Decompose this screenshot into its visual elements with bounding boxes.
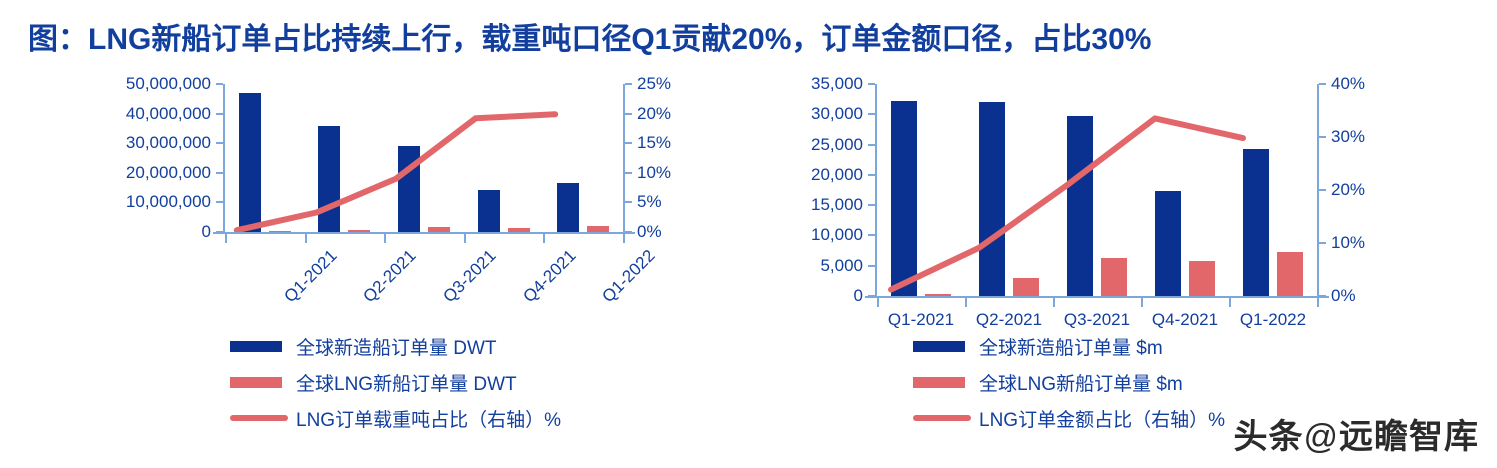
y-axis-left-tick — [868, 204, 875, 206]
x-axis-tick — [965, 298, 967, 307]
y-axis-right-label: 10% — [1331, 234, 1365, 251]
y-axis-left-label: 5,000 — [747, 257, 863, 274]
legend-label: 全球LNG新船订单量 DWT — [296, 369, 517, 396]
y-axis-left-tick — [868, 144, 875, 146]
legend-bar-swatch — [913, 377, 965, 388]
x-axis-label: Q2-2021 — [360, 246, 421, 307]
y-axis-right-label: 25% — [637, 75, 671, 92]
x-axis-tick — [1229, 298, 1231, 307]
y-axis-right-label: 40% — [1331, 75, 1365, 92]
y-axis-left-tick — [868, 234, 875, 236]
x-axis-tick — [305, 234, 307, 243]
legend: 全球新造船订单量 $m全球LNG新船订单量 $mLNG订单金额占比（右轴）% — [913, 328, 1225, 436]
chart-right-usd: 05,00010,00015,00020,00025,00030,00035,0… — [745, 70, 1445, 465]
y-axis-right-label: 0% — [1331, 287, 1356, 304]
y-axis-right-label: 30% — [1331, 128, 1365, 145]
y-axis-right-tick — [1319, 295, 1326, 297]
y-axis-left-tick — [216, 113, 223, 115]
y-axis-right-line — [623, 84, 625, 232]
y-axis-left-label: 25,000 — [747, 136, 863, 153]
plot-area — [225, 84, 623, 232]
y-axis-left-tick — [216, 231, 223, 233]
line-series-layer — [225, 84, 623, 232]
legend: 全球新造船订单量 DWT全球LNG新船订单量 DWTLNG订单载重吨占比（右轴）… — [230, 328, 561, 436]
legend-bar-swatch — [913, 341, 965, 352]
page-title: 图：LNG新船订单占比持续上行，载重吨口径Q1贡献20%，订单金额口径，占比30… — [28, 14, 1151, 58]
y-axis-right-label: 5% — [637, 193, 662, 210]
legend-bar-swatch — [230, 377, 282, 388]
legend-item[interactable]: LNG订单金额占比（右轴）% — [913, 400, 1225, 436]
x-axis-line — [213, 232, 635, 234]
x-axis-label: Q3-2021 — [1053, 310, 1141, 330]
legend-label: LNG订单载重吨占比（右轴）% — [296, 405, 561, 432]
y-axis-left-tick — [216, 142, 223, 144]
y-axis-left-tick — [868, 295, 875, 297]
y-axis-right-tick — [625, 231, 632, 233]
y-axis-left-line — [875, 84, 877, 296]
x-axis-tick — [384, 234, 386, 243]
y-axis-right-tick — [625, 113, 632, 115]
x-axis-tick — [464, 234, 466, 243]
line-lng-share — [891, 118, 1243, 289]
chart-left-dwt: 010,000,00020,000,00030,000,00040,000,00… — [95, 70, 735, 465]
legend-label: 全球新造船订单量 $m — [979, 333, 1163, 360]
y-axis-right-label: 20% — [637, 105, 671, 122]
watermark-prefix: 头条 — [1233, 418, 1303, 456]
x-axis-label: Q2-2021 — [965, 310, 1053, 330]
y-axis-left-label: 35,000 — [747, 75, 863, 92]
y-axis-left-label: 20,000 — [747, 166, 863, 183]
y-axis-left-label: 10,000,000 — [97, 193, 211, 210]
x-axis-label: Q3-2021 — [439, 246, 500, 307]
slide-canvas: 图：LNG新船订单占比持续上行，载重吨口径Q1贡献20%，订单金额口径，占比30… — [0, 0, 1497, 468]
y-axis-right-tick — [625, 83, 632, 85]
y-axis-right-tick — [1319, 83, 1326, 85]
x-axis-label: Q4-2021 — [519, 246, 580, 307]
x-axis-tick — [623, 234, 625, 243]
y-axis-right-label: 20% — [1331, 181, 1365, 198]
x-axis-label: Q1-2021 — [877, 310, 965, 330]
y-axis-right-label: 0% — [637, 223, 662, 240]
y-axis-left-label: 40,000,000 — [97, 105, 211, 122]
y-axis-right-tick — [625, 172, 632, 174]
legend-item[interactable]: 全球LNG新船订单量 DWT — [230, 364, 561, 400]
x-axis-line — [865, 296, 1329, 298]
y-axis-left-tick — [868, 113, 875, 115]
legend-line-swatch — [913, 415, 971, 421]
legend-label: 全球LNG新船订单量 $m — [979, 369, 1183, 396]
x-axis-tick — [225, 234, 227, 243]
y-axis-left-label: 30,000 — [747, 105, 863, 122]
y-axis-left-label: 10,000 — [747, 226, 863, 243]
y-axis-left-tick — [216, 201, 223, 203]
y-axis-left-tick — [868, 265, 875, 267]
x-axis-tick — [1141, 298, 1143, 307]
y-axis-left-tick — [216, 83, 223, 85]
y-axis-left-label: 15,000 — [747, 196, 863, 213]
x-axis-label: Q1-2022 — [599, 246, 660, 307]
y-axis-left-tick — [868, 174, 875, 176]
y-axis-right-label: 10% — [637, 164, 671, 181]
watermark-name: 远瞻智库 — [1339, 418, 1479, 456]
legend-bar-swatch — [230, 341, 282, 352]
y-axis-left-label: 20,000,000 — [97, 164, 211, 181]
y-axis-left-tick — [216, 172, 223, 174]
y-axis-right-tick — [625, 201, 632, 203]
legend-item[interactable]: 全球新造船订单量 $m — [913, 328, 1225, 364]
y-axis-left-tick — [868, 83, 875, 85]
y-axis-right-tick — [1319, 136, 1326, 138]
y-axis-right-tick — [1319, 242, 1326, 244]
y-axis-right-tick — [1319, 189, 1326, 191]
line-lng-share — [237, 114, 555, 230]
legend-label: LNG订单金额占比（右轴）% — [979, 405, 1225, 432]
y-axis-left-line — [223, 84, 225, 232]
legend-label: 全球新造船订单量 DWT — [296, 333, 497, 360]
legend-item[interactable]: 全球LNG新船订单量 $m — [913, 364, 1225, 400]
x-axis-label: Q1-2021 — [280, 246, 341, 307]
y-axis-right-label: 15% — [637, 134, 671, 151]
legend-item[interactable]: LNG订单载重吨占比（右轴）% — [230, 400, 561, 436]
x-axis-tick — [1317, 298, 1319, 307]
y-axis-left-label: 0 — [97, 223, 211, 240]
plot-area — [877, 84, 1317, 296]
line-series-layer — [877, 84, 1317, 296]
x-axis-tick — [1053, 298, 1055, 307]
y-axis-left-label: 50,000,000 — [97, 75, 211, 92]
legend-item[interactable]: 全球新造船订单量 DWT — [230, 328, 561, 364]
x-axis-tick — [877, 298, 879, 307]
watermark-at: @ — [1303, 418, 1339, 456]
y-axis-left-label: 30,000,000 — [97, 134, 211, 151]
y-axis-right-tick — [625, 142, 632, 144]
x-axis-label: Q4-2021 — [1141, 310, 1229, 330]
legend-line-swatch — [230, 415, 288, 421]
y-axis-left-label: 0 — [747, 287, 863, 304]
watermark: 头条@远瞻智库 — [1233, 409, 1479, 458]
x-axis-label: Q1-2022 — [1229, 310, 1317, 330]
x-axis-tick — [543, 234, 545, 243]
